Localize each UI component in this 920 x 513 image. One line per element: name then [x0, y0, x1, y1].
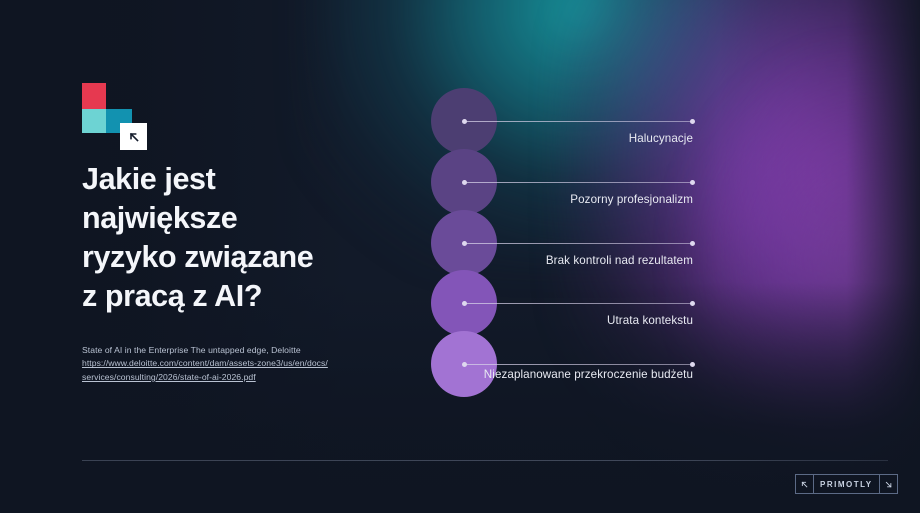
brand-arrow-up-left-cell: [796, 475, 814, 493]
risk-label: Utrata kontekstu: [453, 312, 693, 329]
connector-line: [464, 121, 693, 122]
connector-line: [464, 364, 693, 365]
primotly-brand-lockup: PRIMOTLY: [795, 474, 898, 494]
connector-dot-start: [462, 119, 467, 124]
connector-dot-start: [462, 180, 467, 185]
slide-canvas: Jakie jest największe ryzyko związane z …: [0, 0, 920, 513]
brand-name: PRIMOTLY: [814, 475, 879, 493]
connector-dot-end: [690, 241, 695, 246]
risk-connector: [464, 364, 693, 365]
footer-divider: [82, 460, 888, 461]
risk-connector: [464, 303, 693, 304]
risk-label: Halucynacje: [453, 130, 693, 147]
connector-dot-start: [462, 301, 467, 306]
arrow-down-right-icon: [884, 480, 893, 489]
risk-label: Pozorny profesjonalizm: [453, 191, 693, 208]
connector-dot-end: [690, 119, 695, 124]
arrow-up-left-icon: [800, 480, 809, 489]
connector-dot-end: [690, 301, 695, 306]
connector-line: [464, 182, 693, 183]
connector-dot-end: [690, 180, 695, 185]
risk-label: Brak kontroli nad rezultatem: [453, 252, 693, 269]
risk-connector: [464, 121, 693, 122]
connector-line: [464, 303, 693, 304]
risk-diagram: HalucynacjePozorny profesjonalizmBrak ko…: [0, 0, 920, 513]
connector-line: [464, 243, 693, 244]
risk-label: Niezaplanowane przekroczenie budżetu: [453, 366, 693, 383]
brand-arrow-down-right-cell: [879, 475, 897, 493]
risk-connector: [464, 243, 693, 244]
risk-connector: [464, 182, 693, 183]
connector-dot-start: [462, 241, 467, 246]
